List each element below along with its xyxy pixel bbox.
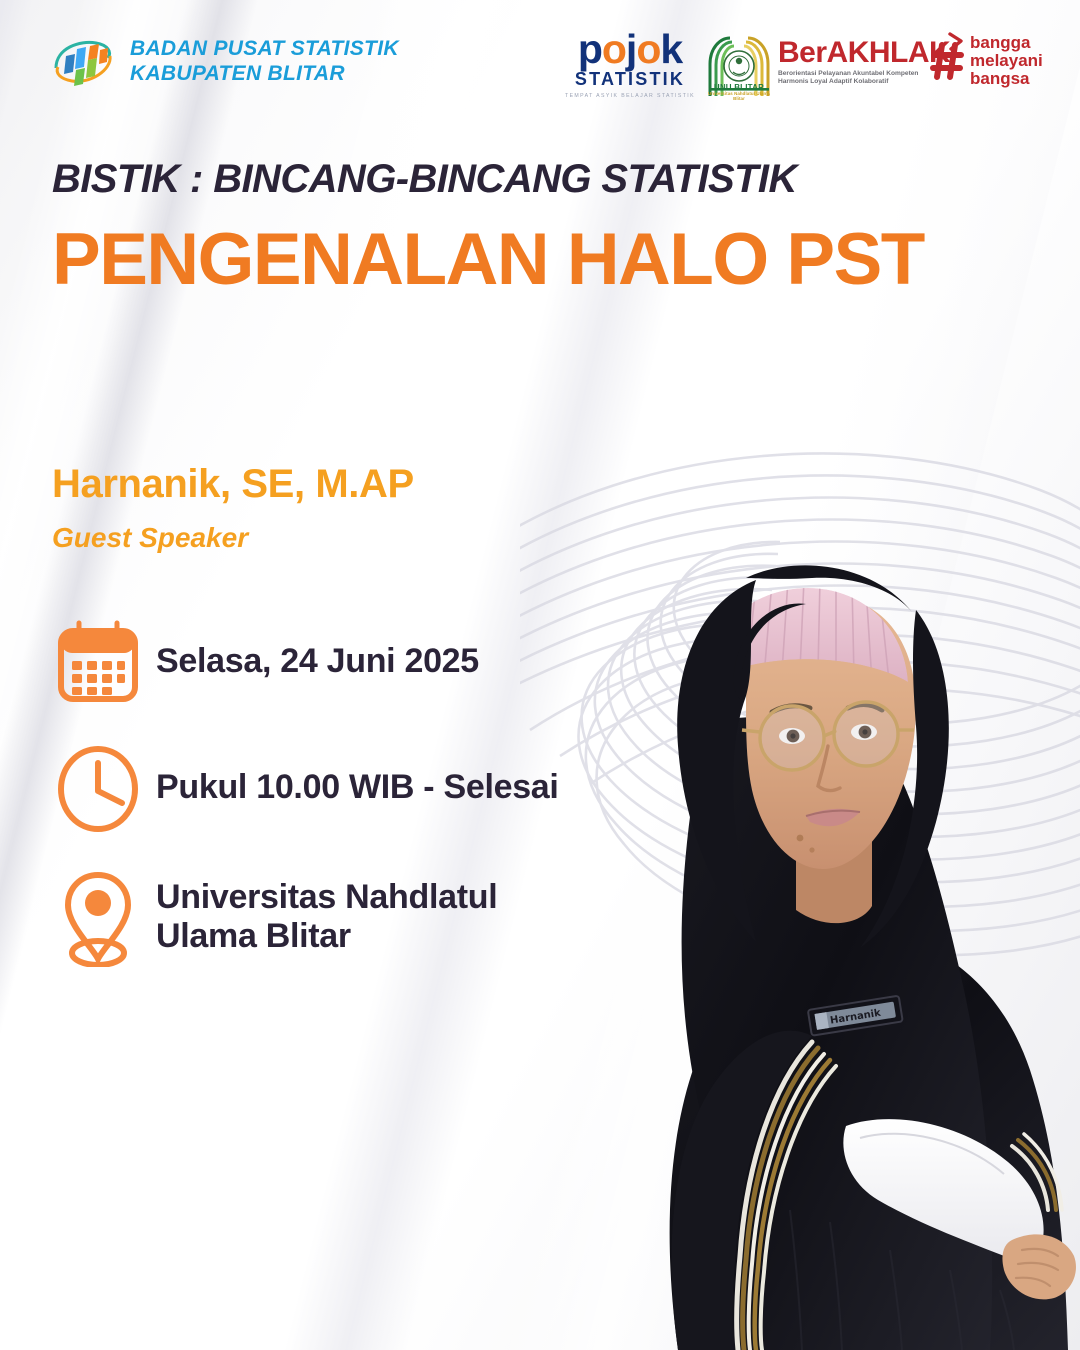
location-pin-icon: [52, 867, 156, 967]
bps-logo-text: BADAN PUSAT STATISTIK KABUPATEN BLITAR: [130, 37, 399, 86]
location-line1: Universitas Nahdlatul: [156, 878, 497, 916]
detail-text-time: Pukul 10.00 WIB - Selesai: [156, 768, 559, 807]
bangga-text: bangga melayani bangsa: [970, 34, 1043, 89]
pojok-subtitle: STATISTIK: [565, 70, 695, 90]
bangga-line1: bangga: [970, 34, 1043, 52]
pojok-tagline: TEMPAT ASYIK BELAJAR STATISTIK: [565, 93, 695, 99]
unu-blitar-logo: UNU BLITAR Universitas Nahdlatul Ulama B…: [703, 30, 775, 108]
calendar-icon: [52, 615, 156, 707]
bps-line2: KABUPATEN BLITAR: [130, 62, 399, 87]
berakhlak-ber: Ber: [778, 36, 827, 69]
speaker-role: Guest Speaker: [52, 522, 248, 554]
pojok-wordmark: pojok: [565, 30, 695, 69]
detail-text-location: Universitas NahdlatulUlama Blitar: [156, 878, 497, 956]
berakhlak-subtitle: Berorientasi Pelayanan Akuntabel Kompete…: [778, 70, 928, 87]
speaker-photo: Harnanik: [560, 550, 1080, 1350]
hashtag-icon: [930, 41, 964, 81]
berakhlak-wordmark: BerAKHLAK: [778, 38, 950, 68]
bangga-melayani-bangsa-logo: bangga melayani bangsa: [930, 34, 1043, 89]
unu-subtitle: Universitas Nahdlatul Ulama Blitar: [703, 91, 775, 101]
speaker-name: Harnanik, SE, M.AP: [52, 462, 414, 507]
bps-logo: BADAN PUSAT STATISTIK KABUPATEN BLITAR: [50, 34, 399, 90]
location-line2: Ulama Blitar: [156, 917, 351, 955]
event-main-title: PENGENALAN HALO PST: [52, 218, 924, 301]
detail-text-date: Selasa, 24 Juni 2025: [156, 642, 479, 681]
bangga-line3: bangsa: [970, 70, 1043, 88]
bps-logo-icon: [50, 34, 116, 90]
event-poster: BADAN PUSAT STATISTIK KABUPATEN BLITAR p…: [0, 0, 1080, 1350]
bangga-line2: melayani: [970, 52, 1043, 70]
bps-line1: BADAN PUSAT STATISTIK: [130, 37, 399, 62]
logo-bar: BADAN PUSAT STATISTIK KABUPATEN BLITAR p…: [0, 0, 1080, 118]
clock-icon: [52, 741, 156, 833]
berakhlak-logo: BerAKHLAK Berorientasi Pelayanan Akuntab…: [778, 38, 950, 87]
event-eyebrow-title: BISTIK : BINCANG-BINCANG STATISTIK: [52, 157, 797, 202]
pojok-statistik-logo: pojok STATISTIK TEMPAT ASYIK BELAJAR STA…: [565, 30, 695, 99]
